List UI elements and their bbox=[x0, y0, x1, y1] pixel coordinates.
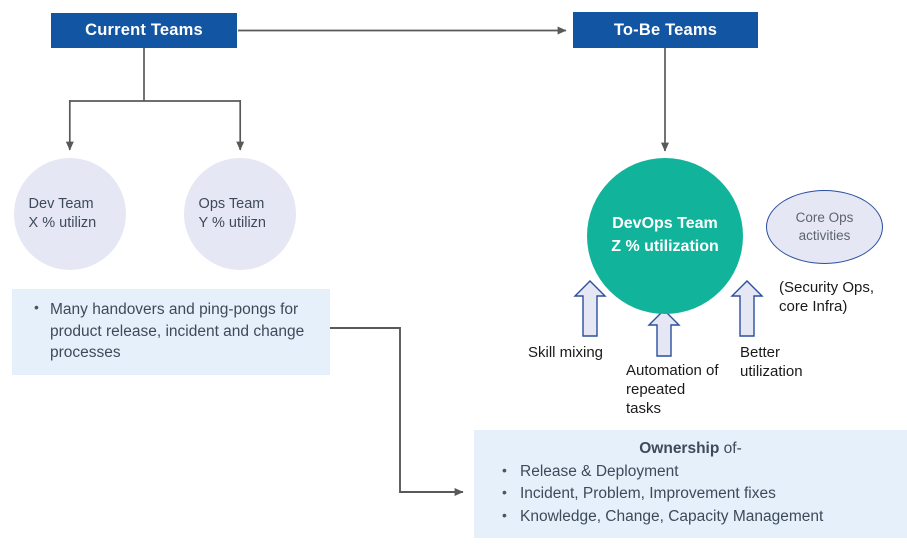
header-label-to-be-teams: To-Be Teams bbox=[614, 21, 717, 40]
list-item: Incident, Problem, Improvement fixes bbox=[480, 483, 901, 505]
list-item: Release & Deployment bbox=[480, 461, 901, 483]
ownership-list: Release & Deployment Incident, Problem, … bbox=[480, 461, 901, 528]
header-label-current-teams: Current Teams bbox=[85, 21, 203, 40]
pain-points-list: Many handovers and ping-pongs for produc… bbox=[20, 299, 320, 364]
header-box-current-teams[interactable]: Current Teams bbox=[51, 13, 237, 48]
dev-team-label: Dev Team X % utilizn bbox=[14, 195, 96, 234]
ops-team-label: Ops Team Y % utilizn bbox=[184, 195, 266, 234]
devops-team-label: DevOps Team Z % utilization bbox=[611, 213, 719, 258]
list-item: Many handovers and ping-pongs for produc… bbox=[20, 299, 320, 364]
block-arrow-skill-mixing bbox=[575, 281, 605, 336]
block-arrow-better-utilization bbox=[732, 281, 762, 336]
callout-ownership: Ownership of- Release & Deployment Incid… bbox=[474, 430, 907, 538]
connector-current-to-teams bbox=[69, 48, 241, 150]
driver-label-better-utilization: Better utilization bbox=[740, 343, 803, 381]
core-ops-label: Core Ops activities bbox=[796, 209, 854, 244]
block-arrow-automation bbox=[649, 310, 679, 356]
ownership-title-strong: Ownership bbox=[639, 440, 719, 457]
connector-painpoints-to-ownership bbox=[330, 328, 463, 492]
list-item: Knowledge, Change, Capacity Management bbox=[480, 506, 901, 528]
core-ops-note-label: (Security Ops, core Infra) bbox=[779, 278, 874, 316]
driver-label-skill-mixing: Skill mixing bbox=[528, 343, 603, 362]
driver-label-automation: Automation of repeated tasks bbox=[626, 361, 719, 419]
circle-devops-team[interactable]: DevOps Team Z % utilization bbox=[587, 158, 743, 314]
circle-ops-team[interactable]: Ops Team Y % utilizn bbox=[184, 158, 296, 270]
header-box-to-be-teams[interactable]: To-Be Teams bbox=[573, 12, 758, 48]
callout-pain-points: Many handovers and ping-pongs for produc… bbox=[12, 289, 330, 375]
ellipse-core-ops-activities[interactable]: Core Ops activities bbox=[766, 190, 883, 264]
diagram-canvas: Current Teams To-Be Teams Dev Team X % u… bbox=[0, 0, 907, 549]
ownership-title: Ownership of- bbox=[480, 439, 901, 460]
circle-dev-team[interactable]: Dev Team X % utilizn bbox=[14, 158, 126, 270]
ownership-title-suffix: of- bbox=[719, 440, 741, 457]
